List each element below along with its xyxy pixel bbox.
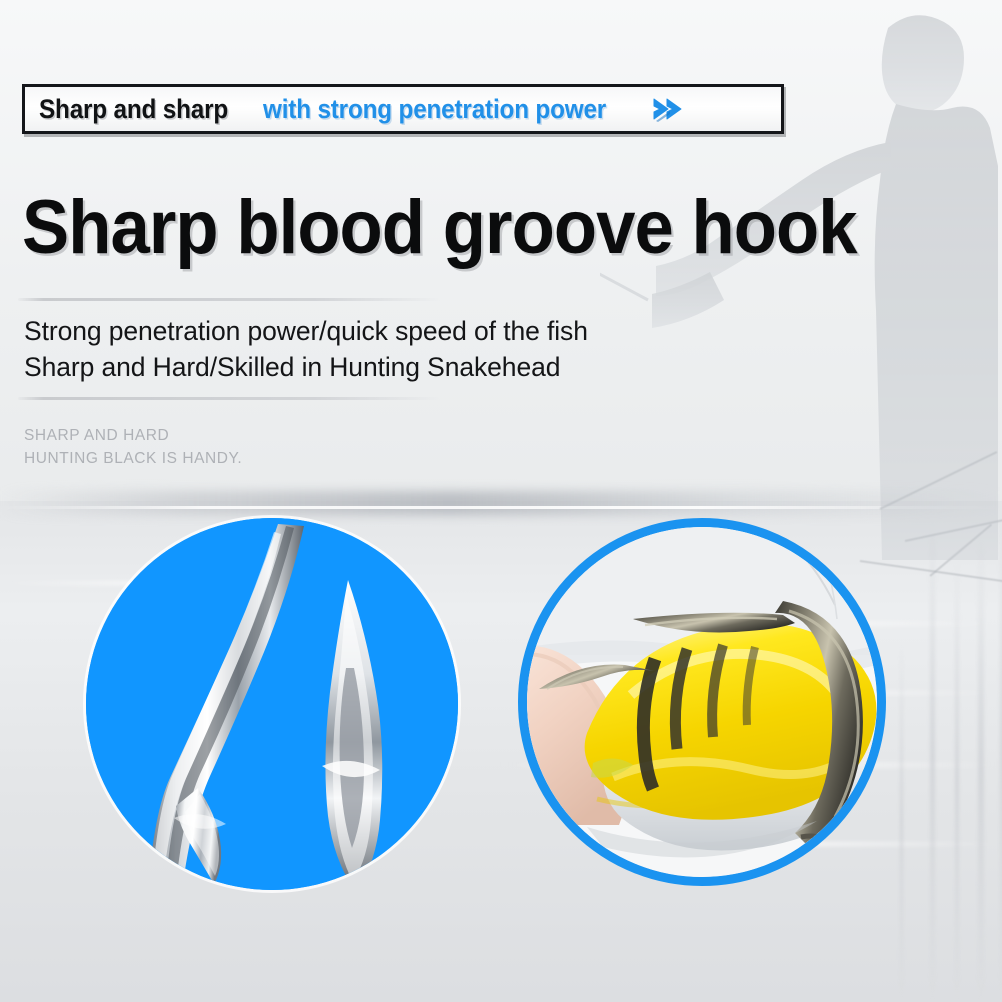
divider-bottom <box>18 397 440 400</box>
banner-text-primary: Sharp and sharp <box>39 96 228 123</box>
callout-banner: Sharp and sharp with strong penetration … <box>22 84 784 134</box>
reed-reflection <box>900 640 903 1000</box>
reed-reflection <box>978 540 984 1000</box>
subheading-block: Strong penetration power/quick speed of … <box>24 313 588 385</box>
reed-reflection <box>955 560 959 1000</box>
tagline-line-1: SHARP AND HARD <box>24 424 242 447</box>
reed-reflection <box>930 520 935 1000</box>
tagline-block: SHARP AND HARD HUNTING BLACK IS HANDY. <box>24 424 242 470</box>
page-title: Sharp blood groove hook <box>22 190 857 266</box>
subheading-line-1: Strong penetration power/quick speed of … <box>24 313 588 349</box>
product-banner-poster: Sharp and sharp with strong penetration … <box>0 0 1002 1002</box>
double-chevron-right-icon <box>652 95 696 123</box>
tagline-line-2: HUNTING BLACK IS HANDY. <box>24 447 242 470</box>
divider-top <box>18 298 440 301</box>
subheading-line-2: Sharp and Hard/Skilled in Hunting Snakeh… <box>24 349 588 385</box>
inset-frog-lure-closeup <box>518 518 886 886</box>
banner-text-accent: with strong penetration power <box>263 96 606 123</box>
background-photo <box>0 0 1002 1002</box>
inset-hook-point-closeup <box>86 518 458 890</box>
